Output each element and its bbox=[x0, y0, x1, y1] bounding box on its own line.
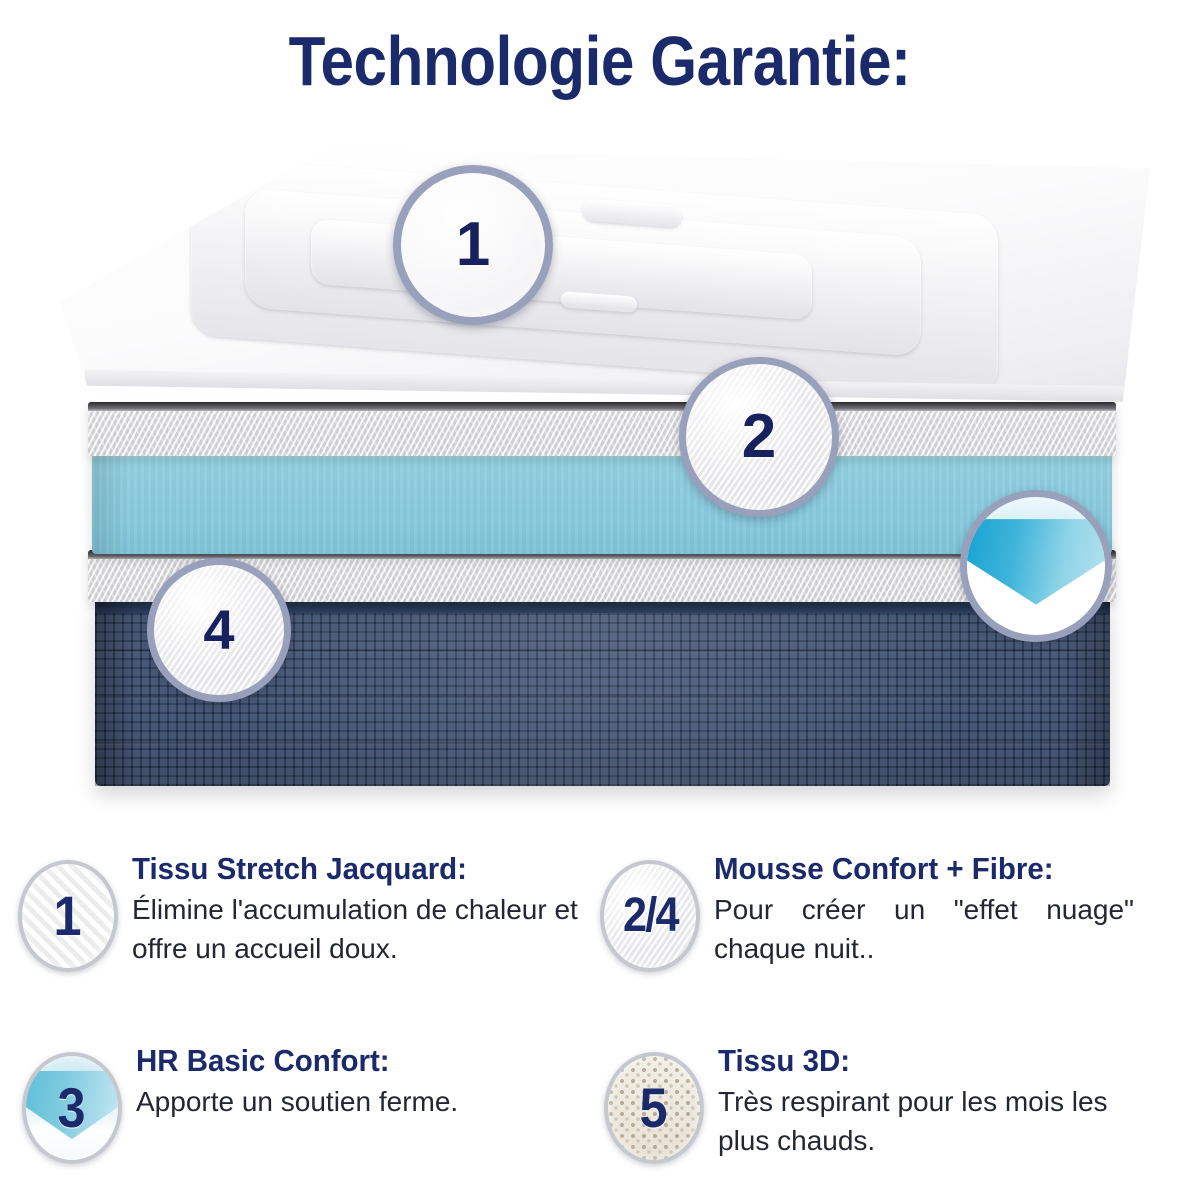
foam-left-shadow bbox=[92, 450, 128, 554]
legend-text-block: Tissu 3D: Très respirant pour les mois l… bbox=[718, 1038, 1138, 1160]
legend-badge-5: 5 bbox=[604, 1052, 704, 1164]
diagram-callout-2[interactable]: 2 bbox=[679, 357, 839, 517]
diagram-callout-1[interactable]: 1 bbox=[393, 165, 553, 325]
legend-description: Pour créer un "effet nuage" chaque nuit.… bbox=[714, 890, 1134, 968]
legend-badge-number: 5 bbox=[640, 1080, 668, 1136]
legend-description: Élimine l'accumulation de chaleur et off… bbox=[132, 890, 587, 968]
diagram-callout-4[interactable]: 4 bbox=[147, 558, 291, 702]
legend-badge-1: 1 bbox=[18, 860, 118, 972]
callout-number: 4 bbox=[203, 602, 234, 658]
legend-title: Tissu 3D: bbox=[718, 1042, 1117, 1080]
legend-badge-number: 3 bbox=[58, 1080, 86, 1136]
title-bar: Technologie Garantie: bbox=[0, 22, 1200, 100]
page-title: Technologie Garantie: bbox=[289, 22, 911, 100]
legend-badge-number: 1 bbox=[54, 888, 82, 944]
base-seam bbox=[95, 696, 1110, 699]
legend-badge-2-4: 2/4 bbox=[600, 860, 700, 972]
callout-number: 3 bbox=[1020, 537, 1052, 595]
legend-item-mousse-fibre[interactable]: 2/4 Mousse Confort + Fibre: Pour créer u… bbox=[600, 846, 1200, 972]
legend-item-jacquard[interactable]: 1 Tissu Stretch Jacquard: Élimine l'accu… bbox=[18, 846, 598, 972]
mattress-layer-top-panel bbox=[60, 148, 1150, 418]
legend-text-block: Tissu Stretch Jacquard: Élimine l'accumu… bbox=[132, 846, 587, 968]
legend-description: Apporte un soutien ferme. bbox=[136, 1082, 458, 1121]
diagram-callout-3[interactable]: 3 bbox=[960, 490, 1112, 642]
legend-title: Tissu Stretch Jacquard: bbox=[132, 850, 564, 888]
base-seam bbox=[95, 742, 1110, 745]
callout-number: 2 bbox=[742, 406, 776, 468]
legend-text-block: HR Basic Confort: Apporte un soutien fer… bbox=[136, 1038, 458, 1121]
legend-title: HR Basic Confort: bbox=[136, 1042, 442, 1080]
callout-number: 1 bbox=[456, 214, 490, 276]
legend-badge-number: 2/4 bbox=[623, 892, 678, 940]
legend-item-hr-basic[interactable]: 3 HR Basic Confort: Apporte un soutien f… bbox=[22, 1038, 602, 1164]
legend-text-block: Mousse Confort + Fibre: Pour créer un "e… bbox=[714, 846, 1134, 968]
legend-title: Mousse Confort + Fibre: bbox=[714, 850, 1113, 888]
mattress-diagram: 1 2 3 4 bbox=[0, 130, 1200, 830]
mattress-layer-foam bbox=[92, 450, 1112, 554]
legend-badge-3: 3 bbox=[22, 1052, 122, 1164]
legend-description: Très respirant pour les mois les plus ch… bbox=[718, 1082, 1138, 1160]
top-panel-slab bbox=[60, 148, 1150, 418]
base-left-shadow bbox=[95, 598, 137, 786]
legend-item-tissu-3d[interactable]: 5 Tissu 3D: Très respirant pour les mois… bbox=[604, 1038, 1200, 1164]
legend-grid: 1 Tissu Stretch Jacquard: Élimine l'accu… bbox=[0, 838, 1200, 1200]
